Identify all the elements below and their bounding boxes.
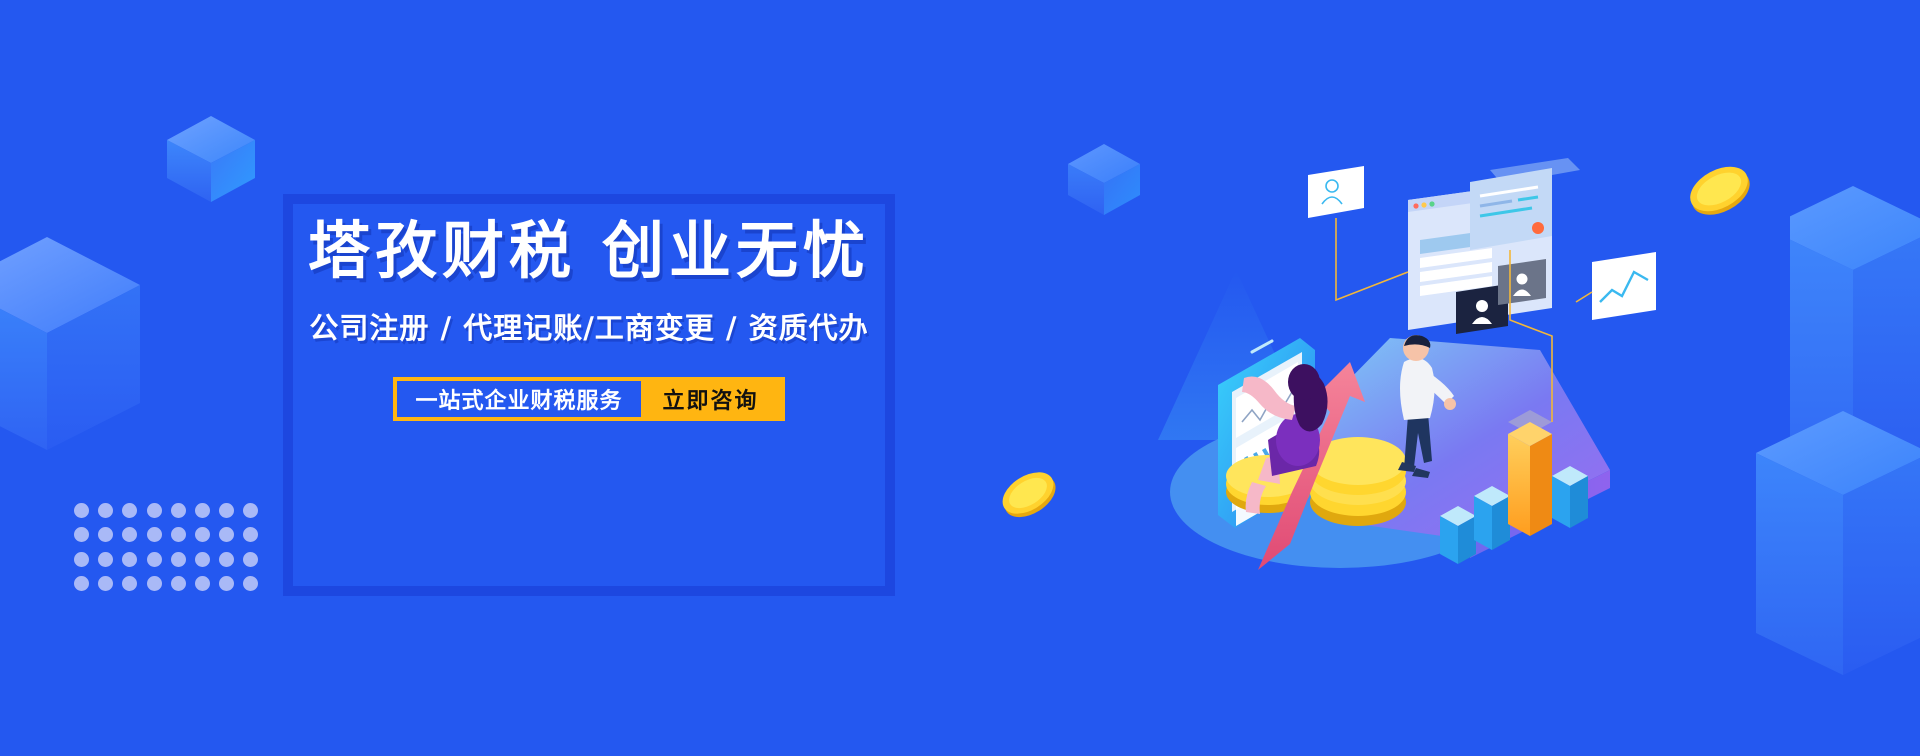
isometric-fintech-illustration [1140, 140, 1660, 570]
coin-center-icon [995, 460, 1061, 526]
page-title: 塔孜财税创业无忧 [308, 216, 870, 285]
profile-card-illustration [1308, 166, 1364, 218]
cube-top-left-icon [162, 108, 260, 208]
box-left-icon [0, 215, 140, 475]
service-tag-label: 一站式企业财税服务 [397, 381, 640, 417]
banner-content: 塔孜财税创业无忧 公司注册 / 代理记账/工商变更 / 资质代办 一站式企业财税… [283, 194, 895, 596]
credit-card-illustration [1470, 158, 1580, 250]
coin-top-right-icon [1683, 153, 1755, 225]
promo-banner: 塔孜财税创业无忧 公司注册 / 代理记账/工商变更 / 资质代办 一站式企业财税… [0, 0, 1920, 756]
line-chart-card-illustration [1592, 252, 1656, 320]
consult-now-button[interactable]: 立即咨询 [641, 381, 781, 417]
box-right-lower-icon [1755, 405, 1920, 705]
cube-top-center-icon [1064, 138, 1144, 220]
dot-grid-pattern [74, 503, 268, 601]
cta-group: 一站式企业财税服务 立即咨询 [393, 377, 784, 421]
headline-part2: 创业无忧 [602, 214, 870, 287]
services-subtitle: 公司注册 / 代理记账/工商变更 / 资质代办 [309, 305, 868, 347]
headline-part1: 塔孜财税 [308, 214, 576, 287]
